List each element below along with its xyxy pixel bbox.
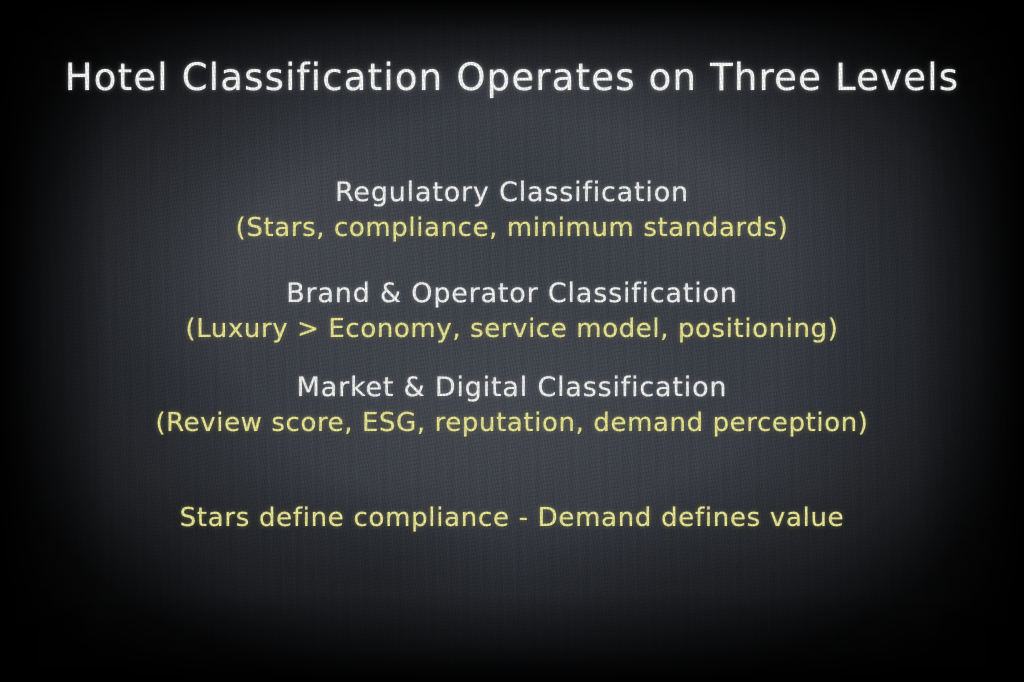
level-heading-regulatory: Regulatory Classification	[0, 176, 1024, 210]
level-detail-brand-operator: (Luxury > Economy, service model, positi…	[0, 311, 1024, 347]
level-detail-market-digital: (Review score, ESG, reputation, demand p…	[0, 405, 1024, 441]
closing-statement: Stars define compliance - Demand defines…	[0, 500, 1024, 536]
level-block-market-digital: Market & Digital Classification (Review …	[0, 371, 1024, 441]
level-heading-market-digital: Market & Digital Classification	[0, 371, 1024, 405]
chalkboard-slide: Hotel Classification Operates on Three L…	[0, 0, 1024, 682]
level-block-regulatory: Regulatory Classification (Stars, compli…	[0, 176, 1024, 246]
level-heading-brand-operator: Brand & Operator Classification	[0, 277, 1024, 311]
page-title: Hotel Classification Operates on Three L…	[0, 55, 1024, 101]
level-detail-regulatory: (Stars, compliance, minimum standards)	[0, 210, 1024, 246]
slide-content: Hotel Classification Operates on Three L…	[0, 0, 1024, 682]
level-block-brand-operator: Brand & Operator Classification (Luxury …	[0, 277, 1024, 347]
